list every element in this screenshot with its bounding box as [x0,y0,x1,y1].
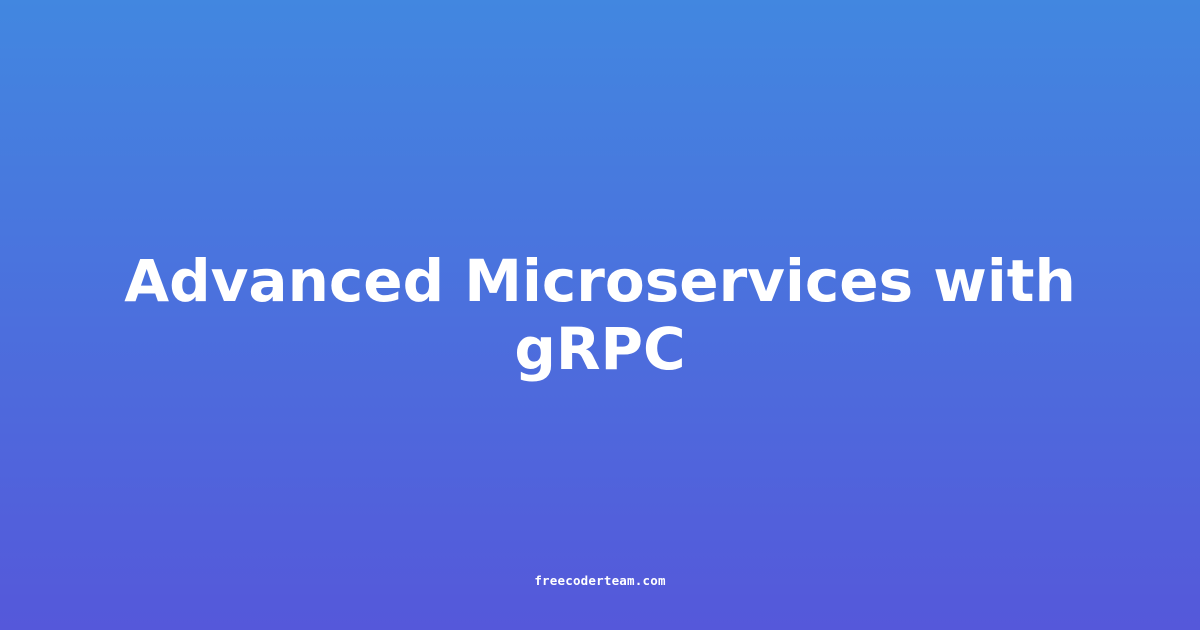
page-title: Advanced Microservices with gRPC [80,247,1120,384]
footer-block: freecoderteam.com [0,573,1200,588]
title-block: Advanced Microservices with gRPC [0,0,1200,630]
og-social-card: Advanced Microservices with gRPC freecod… [0,0,1200,630]
site-watermark: freecoderteam.com [534,573,665,588]
